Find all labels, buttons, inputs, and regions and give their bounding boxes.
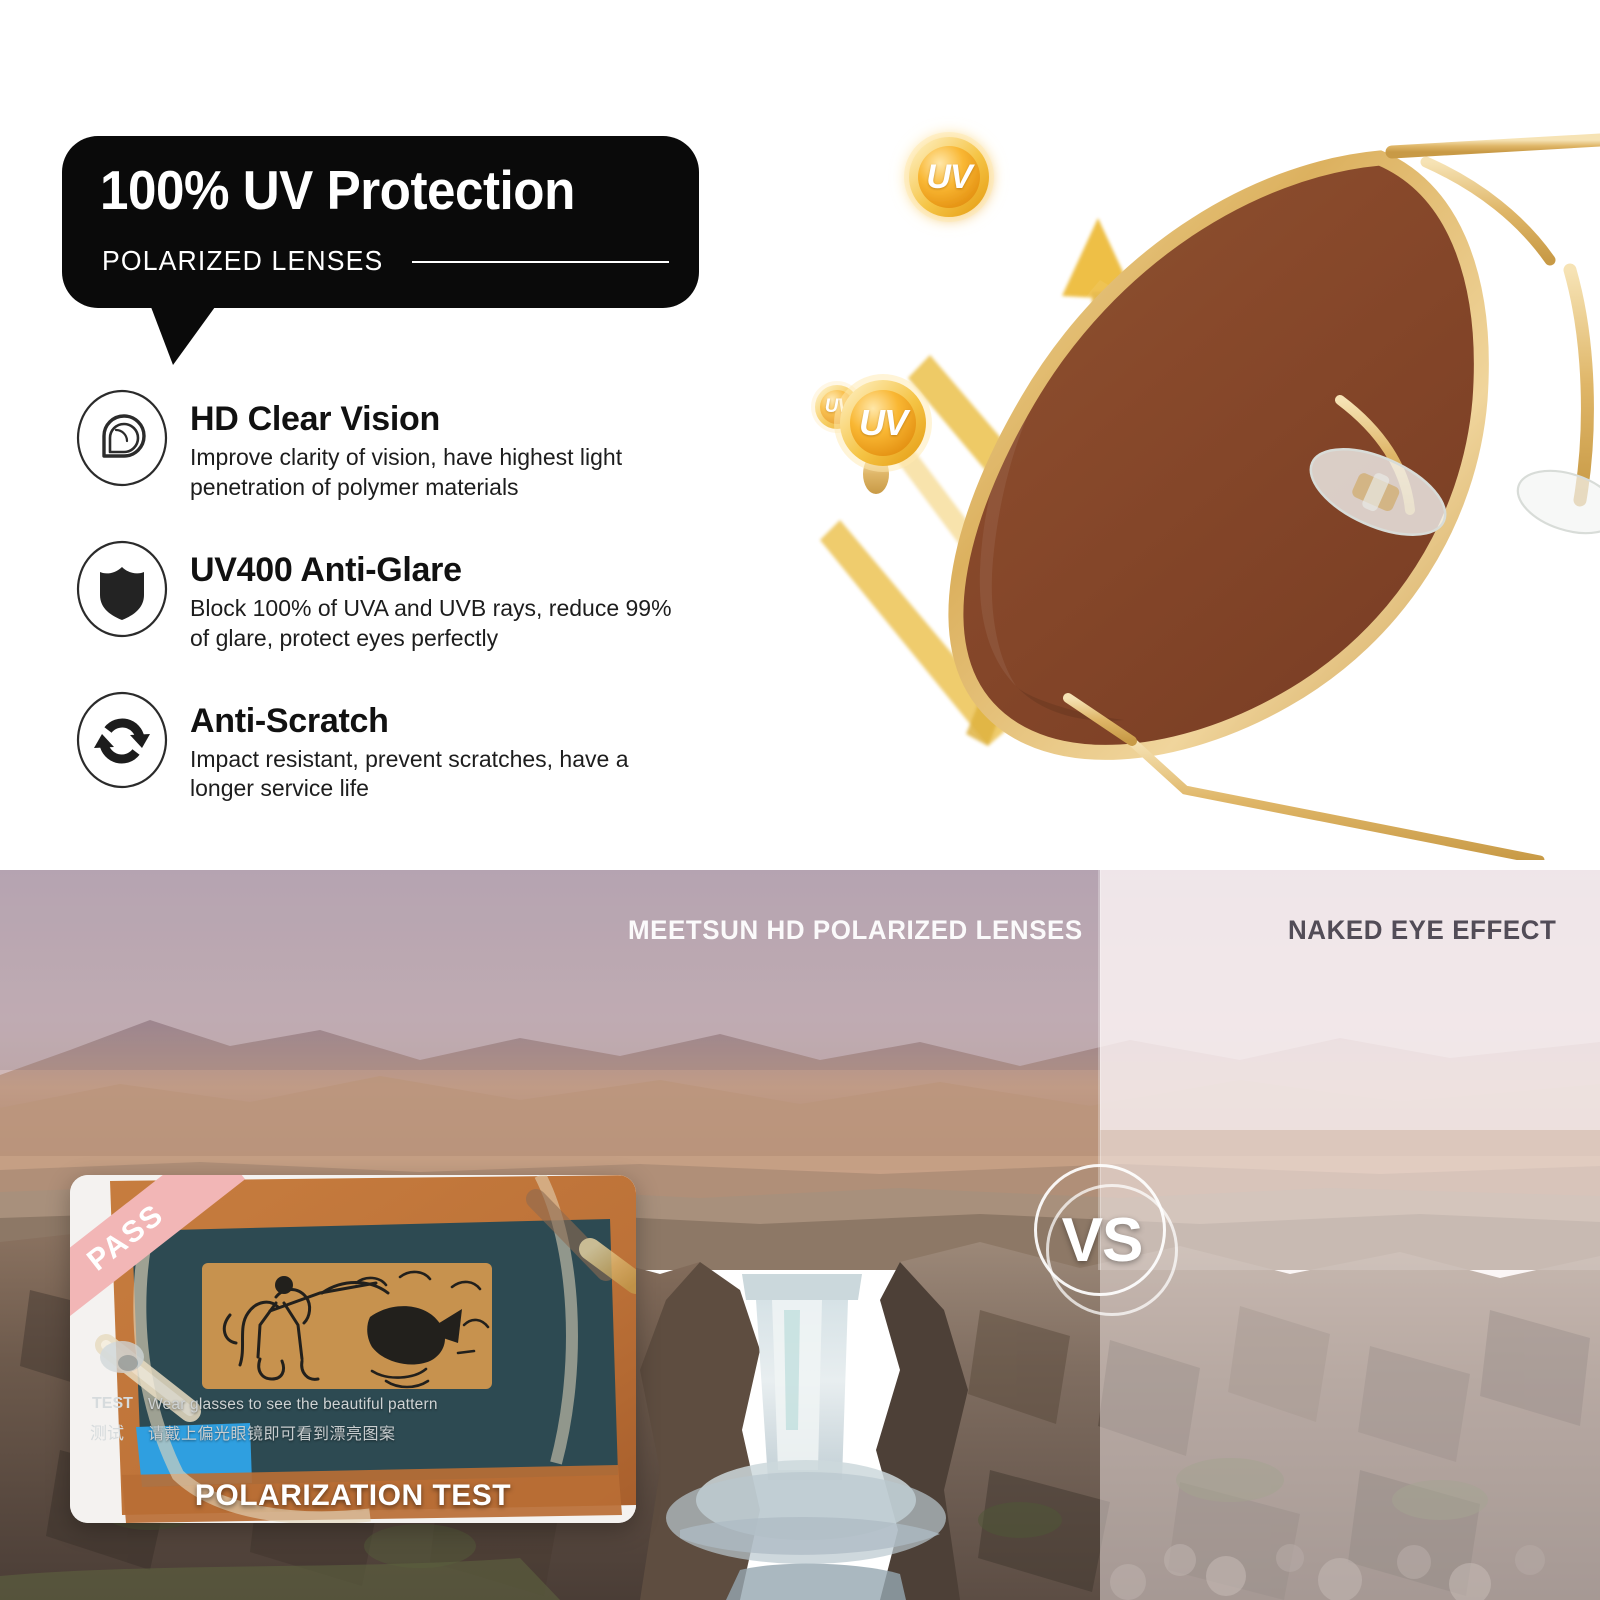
feature-description: Block 100% of UVA and UVB rays, reduce 9…	[190, 594, 680, 654]
uv-badge-large-bottom-left: UV	[832, 372, 934, 474]
test-tag-chinese: 测试	[90, 1419, 124, 1444]
label-naked-eye: NAKED EYE EFFECT	[1288, 915, 1556, 946]
banner-subtitle: POLARIZED LENSES	[102, 245, 383, 277]
temple-arm	[1130, 740, 1540, 860]
polarization-test-caption: POLARIZATION TEST	[70, 1479, 636, 1513]
lens-teardrop-icon	[72, 388, 172, 488]
banner-divider-rule	[412, 261, 669, 263]
sunglasses-illustration: UV UV UV	[780, 100, 1600, 860]
feature-title: Anti-Scratch	[190, 702, 680, 741]
test-instruction-english: Wear glasses to see the beautiful patter…	[148, 1396, 438, 1414]
test-tag-english: TEST	[92, 1395, 133, 1413]
feature-item-uv400-anti-glare: UV400 Anti-Glare Block 100% of UVA and U…	[72, 539, 712, 654]
feature-item-hd-clear-vision: HD Clear Vision Improve clarity of visio…	[72, 388, 712, 503]
feature-title: HD Clear Vision	[190, 400, 680, 439]
uv-badge-large-top: UV	[902, 130, 996, 224]
aviator-lens	[956, 158, 1481, 752]
uv-badge-label: UV	[832, 372, 934, 474]
feature-text-block: Anti-Scratch Impact resistant, prevent s…	[190, 690, 680, 805]
uv-protection-banner: 100% UV Protection POLARIZED LENSES	[62, 136, 699, 308]
right-lens-rim	[1570, 270, 1587, 500]
label-polarized-lenses: MEETSUN HD POLARIZED LENSES	[628, 915, 1083, 946]
banner-title: 100% UV Protection	[100, 158, 575, 222]
top-feature-section: 100% UV Protection POLARIZED LENSES HD C…	[0, 0, 1600, 870]
test-instruction-chinese: 请戴上偏光眼镜即可看到漂亮图案	[148, 1420, 396, 1444]
vs-badge: VS	[1022, 1160, 1182, 1320]
feature-description: Impact resistant, prevent scratches, hav…	[190, 745, 680, 805]
polarized-overlay	[0, 870, 1100, 1070]
feature-title: UV400 Anti-Glare	[190, 551, 680, 590]
shield-icon	[72, 539, 172, 639]
bridge-bar	[1392, 140, 1600, 152]
uv-badge-label: UV	[902, 130, 996, 224]
polarization-test-card: PASS POLARIZATION TEST	[70, 1175, 636, 1523]
banner-pointer-tail	[151, 307, 215, 365]
feature-item-anti-scratch: Anti-Scratch Impact resistant, prevent s…	[72, 690, 712, 805]
feature-list: HD Clear Vision Improve clarity of visio…	[72, 388, 712, 840]
vs-label: VS	[1022, 1160, 1182, 1320]
banner-subtitle-row: POLARIZED LENSES	[102, 241, 669, 281]
feature-description: Improve clarity of vision, have highest …	[190, 443, 680, 503]
refresh-arrows-icon	[72, 690, 172, 790]
feature-text-block: HD Clear Vision Improve clarity of visio…	[190, 388, 680, 503]
feature-text-block: UV400 Anti-Glare Block 100% of UVA and U…	[190, 539, 680, 654]
